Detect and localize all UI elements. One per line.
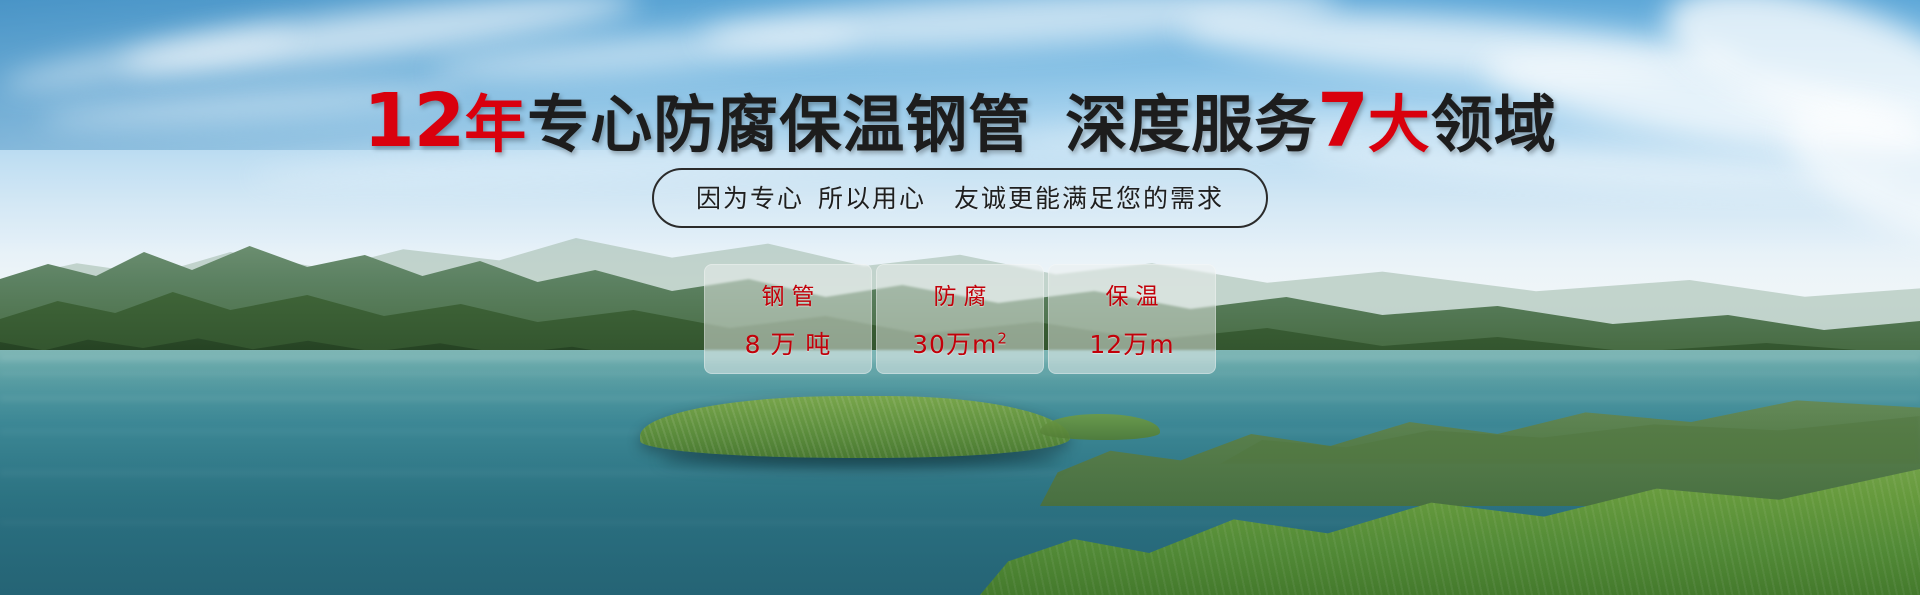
stat-value-text: 12万m (1089, 330, 1174, 359)
stat-card-steel-pipe[interactable]: 钢管 8 万 吨 (704, 264, 872, 374)
headline-segment-three: 领域 (1431, 88, 1557, 161)
headline: 12年专心防腐保温钢管深度服务7大领域 (0, 84, 1920, 158)
stat-value-text: 30万m (912, 330, 997, 359)
stat-value-text: 8 万 吨 (745, 330, 832, 359)
stat-card-value: 8 万 吨 (745, 325, 832, 361)
subtitle-segment-one: 因为专心 (696, 184, 804, 213)
headline-years-unit: 年 (464, 88, 527, 161)
stat-value-superscript: 2 (997, 330, 1008, 348)
stat-card-group: 钢管 8 万 吨 防腐 30万m2 保温 12万m (0, 264, 1920, 374)
headline-fields-unit: 大 (1368, 88, 1431, 161)
subtitle-pill: 因为专心所以用心友诚更能满足您的需求 (652, 168, 1268, 228)
stat-card-value: 30万m2 (912, 325, 1008, 361)
stat-card-label: 防腐 (927, 277, 994, 311)
headline-segment-two: 深度服务 (1065, 88, 1317, 161)
stat-card-label: 钢管 (755, 277, 822, 311)
stat-card-label: 保温 (1099, 277, 1166, 311)
headline-segment-one: 专心防腐保温钢管 (527, 88, 1031, 161)
stat-card-insulation[interactable]: 保温 12万m (1048, 264, 1216, 374)
subtitle-segment-two: 所以用心 (818, 184, 926, 213)
subtitle-container: 因为专心所以用心友诚更能满足您的需求 (0, 168, 1920, 228)
headline-fields-number: 7 (1317, 78, 1368, 164)
stat-card-anticorrosion[interactable]: 防腐 30万m2 (876, 264, 1044, 374)
banner-content: 12年专心防腐保温钢管深度服务7大领域 因为专心所以用心友诚更能满足您的需求 钢… (0, 0, 1920, 595)
subtitle-segment-three: 友诚更能满足您的需求 (954, 184, 1224, 213)
promo-banner: 12年专心防腐保温钢管深度服务7大领域 因为专心所以用心友诚更能满足您的需求 钢… (0, 0, 1920, 595)
stat-card-value: 12万m (1089, 325, 1174, 361)
headline-years-number: 12 (363, 78, 464, 164)
